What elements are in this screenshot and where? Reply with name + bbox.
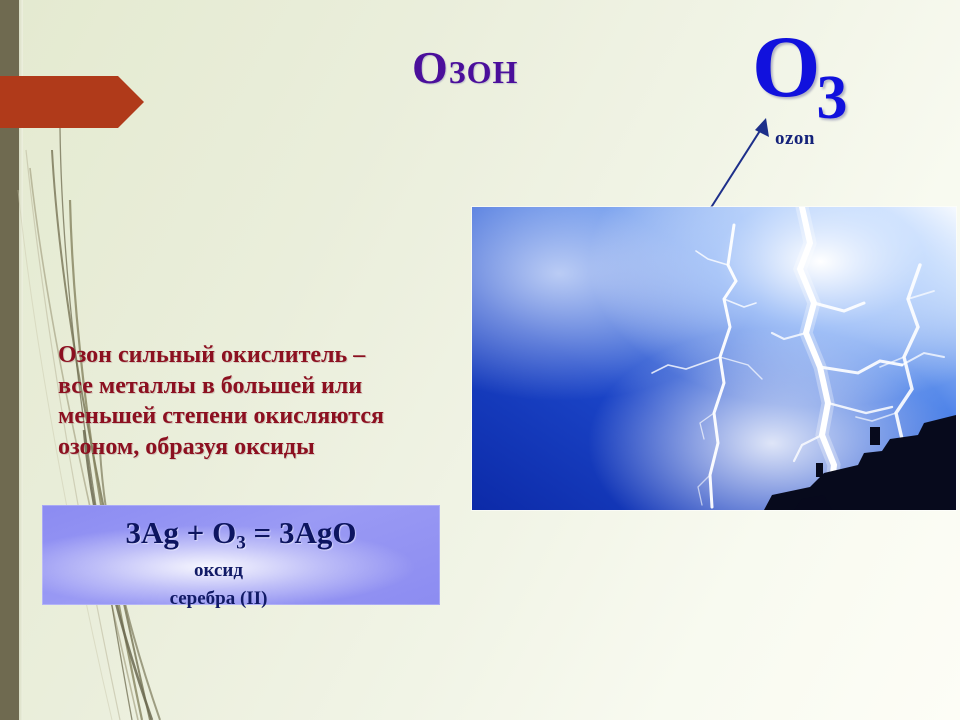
lightning-photo-image (472, 207, 956, 510)
page-title: Озон (412, 41, 518, 94)
equation-note: оксид серебра (II) (42, 557, 440, 612)
ozone-logo-subscript: 3 (816, 64, 847, 132)
statement-line-4: озоном, образуя оксиды (58, 432, 448, 463)
lightning-photo (472, 207, 956, 510)
red-arrow-banner (0, 76, 144, 128)
equation-subscript: 3 (236, 532, 246, 553)
statement-text: Озон сильный окислитель – все металлы в … (58, 340, 448, 463)
ozone-logo-o: O (752, 19, 820, 116)
ozone-logo-caption: ozon (775, 128, 815, 150)
slide: Озон O3 ozon (0, 0, 960, 720)
ozone-formula-logo: O3 (752, 28, 851, 112)
statement-line-3: меньшей степени окисляются (58, 401, 448, 432)
chemical-equation: 3Ag + O3 = 3AgO (42, 515, 440, 554)
equation-box: 3Ag + O3 = 3AgO оксид серебра (II) (42, 505, 440, 605)
equation-right: = 3AgO (246, 515, 357, 550)
statement-line-1: Озон сильный окислитель – (58, 340, 448, 371)
equation-note-line-1: оксид (42, 557, 395, 585)
equation-left: 3Ag + O (126, 515, 237, 550)
equation-note-line-2: серебра (II) (42, 585, 395, 613)
statement-line-2: все металлы в большей или (58, 371, 448, 402)
